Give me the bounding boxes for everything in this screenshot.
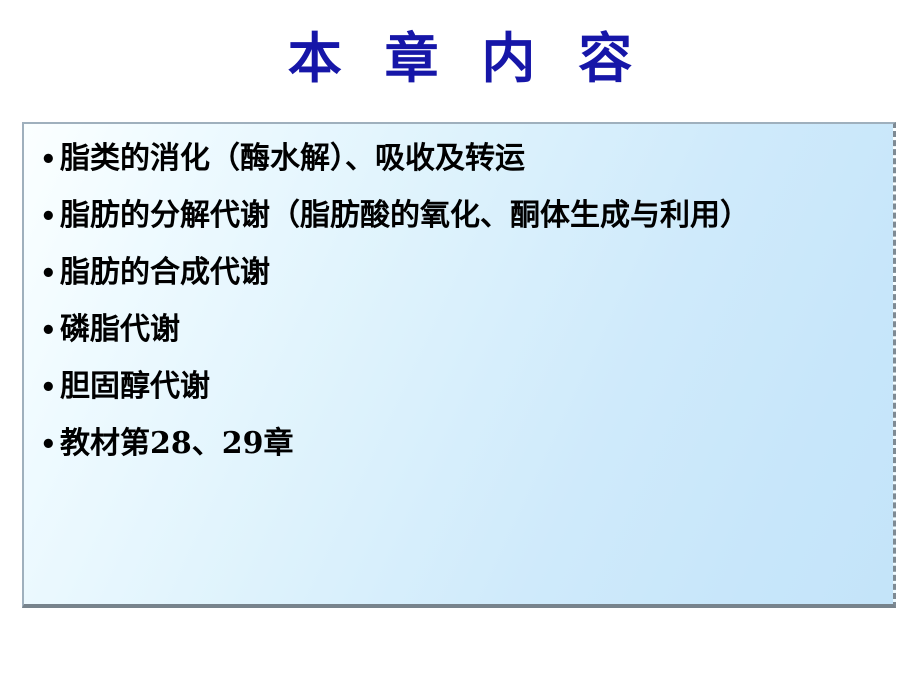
bullet-list: • 脂类的消化（酶水解）、吸收及转运 • 脂肪的分解代谢（脂肪酸的氧化、酮体生成…: [40, 138, 877, 466]
list-item-label: 脂肪的分解代谢（脂肪酸的氧化、酮体生成与利用）: [60, 195, 750, 237]
bullet-icon: •: [40, 139, 60, 181]
page-title: 本 章 内 容: [0, 26, 920, 90]
list-item-label: 教材第28、29章: [60, 423, 294, 465]
list-item[interactable]: • 胆固醇代谢: [40, 366, 877, 409]
bullet-icon: •: [40, 424, 60, 466]
list-item[interactable]: • 脂肪的合成代谢: [40, 252, 877, 295]
bullet-icon: •: [40, 253, 60, 295]
list-item-label: 胆固醇代谢: [60, 366, 210, 408]
list-item-label: 脂肪的合成代谢: [60, 252, 270, 294]
bullet-icon: •: [40, 196, 60, 238]
slide-root: 本 章 内 容 • 脂类的消化（酶水解）、吸收及转运 • 脂肪的分解代谢（脂肪酸…: [0, 0, 920, 690]
list-item[interactable]: • 脂肪的分解代谢（脂肪酸的氧化、酮体生成与利用）: [40, 195, 877, 238]
list-item-label: 脂类的消化（酶水解）、吸收及转运: [60, 138, 525, 180]
bullet-icon: •: [40, 367, 60, 409]
bullet-icon: •: [40, 310, 60, 352]
list-item[interactable]: • 磷脂代谢: [40, 309, 877, 352]
list-item[interactable]: • 脂类的消化（酶水解）、吸收及转运: [40, 138, 877, 181]
content-box[interactable]: • 脂类的消化（酶水解）、吸收及转运 • 脂肪的分解代谢（脂肪酸的氧化、酮体生成…: [22, 122, 896, 608]
list-item[interactable]: • 教材第28、29章: [40, 423, 877, 466]
list-item-label: 磷脂代谢: [60, 309, 180, 351]
